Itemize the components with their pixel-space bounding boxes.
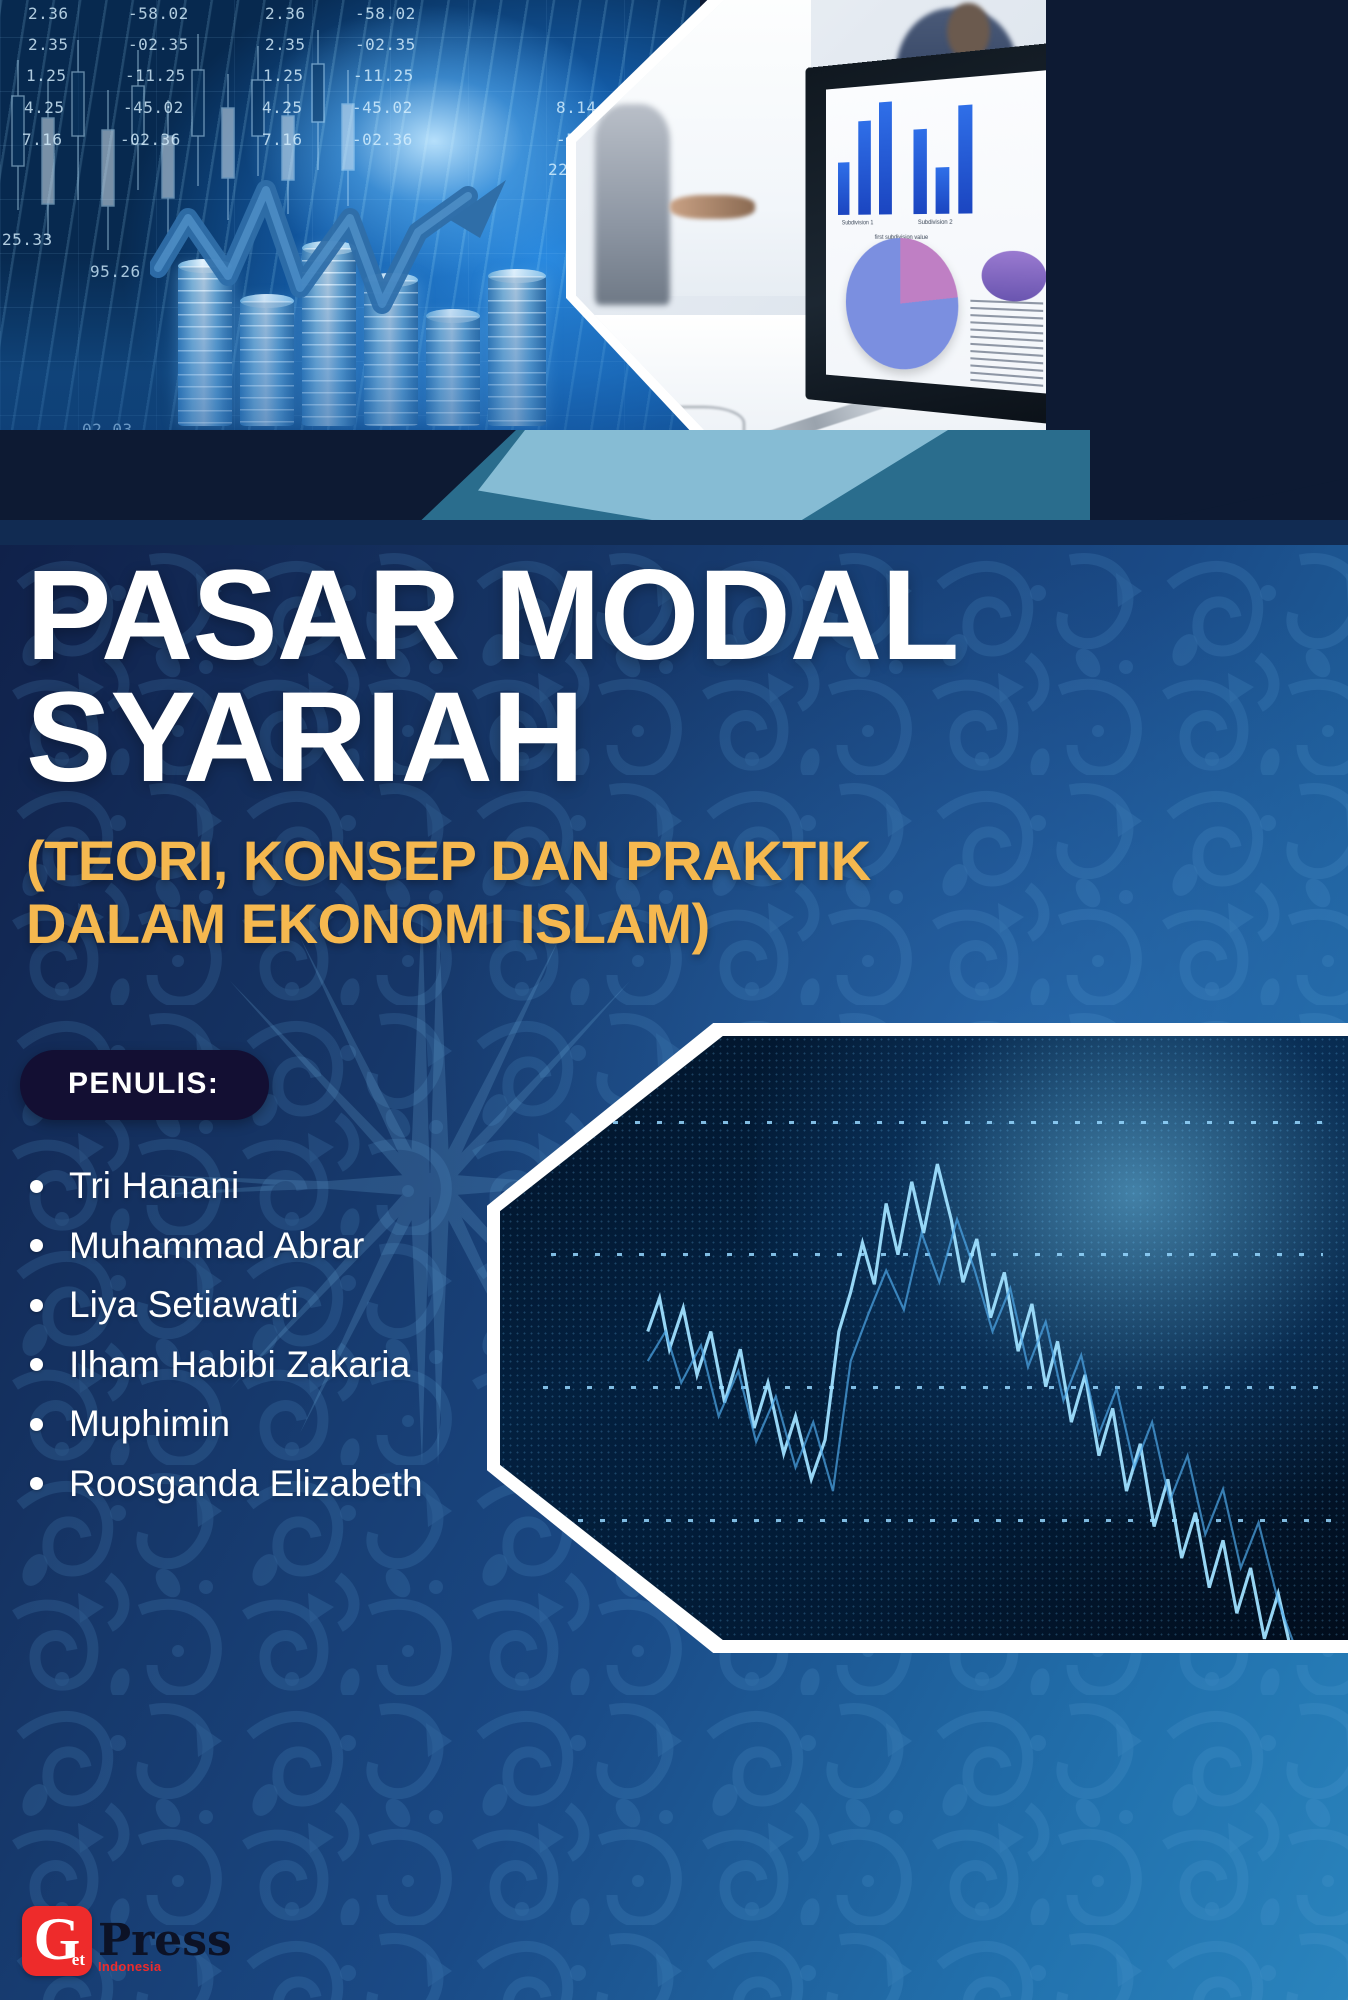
ticker-value: 7.16 [22, 130, 63, 149]
pie-chart-secondary [982, 250, 1046, 302]
author-name: Tri Hanani [69, 1160, 239, 1213]
laptop: Subdivision 1 Subdivision 2 first subdiv… [806, 42, 1046, 425]
ticker-value: 1.25 [263, 66, 304, 85]
author-list: Tri Hanani Muhammad Abrar Liya Setiawati… [30, 1160, 590, 1517]
authors-label-text: PENULIS: [68, 1067, 219, 1100]
subtitle-line-1: (TEORI, KONSEP DAN PRAKTIK [26, 830, 1026, 893]
book-subtitle: (TEORI, KONSEP DAN PRAKTIK DALAM EKONOMI… [26, 830, 1026, 955]
cover-main-area: PASAR MODAL SYARIAH (TEORI, KONSEP DAN P… [0, 545, 1348, 2000]
list-item: Muphimin [30, 1398, 590, 1451]
list-item: Tri Hanani [30, 1160, 590, 1213]
publisher-name: Press [98, 1920, 232, 1962]
book-title: PASAR MODAL SYARIAH [26, 555, 1316, 798]
bullet-icon [30, 1477, 43, 1490]
author-name: Muphimin [69, 1398, 230, 1451]
chart-axis-label-2: Subdivision 2 [918, 219, 953, 225]
author-name: Liya Setiawati [69, 1279, 299, 1332]
ticker-value: 25.33 [2, 230, 53, 249]
list-item: Ilham Habibi Zakaria [30, 1339, 590, 1392]
publisher-logo: G et Press Indonesia [22, 1906, 232, 1976]
list-item: Roosganda Elizabeth [30, 1458, 590, 1511]
person-left [595, 104, 670, 306]
bullet-icon [30, 1299, 43, 1312]
laptop-screen: Subdivision 1 Subdivision 2 first subdiv… [826, 69, 1046, 393]
band-base-fill [0, 520, 1348, 548]
ticker-value: -45.02 [123, 98, 184, 117]
book-cover: 2.36 -58.02 2.36 -58.02 2.35 -02.35 2.35… [0, 0, 1348, 2000]
stock-price-line-chart [500, 1036, 1348, 1640]
ticker-value: -02.35 [355, 35, 416, 54]
chart-axis-label-1: Subdivision 1 [842, 220, 874, 226]
title-line-2: SYARIAH [26, 677, 1316, 799]
authors-label-badge: PENULIS: [20, 1050, 269, 1120]
ticker-value: -11.25 [125, 66, 186, 85]
bullet-icon [30, 1358, 43, 1371]
list-item: Liya Setiawati [30, 1279, 590, 1332]
ticker-value: 4.25 [24, 98, 65, 117]
author-name: Ilham Habibi Zakaria [69, 1339, 410, 1392]
ticker-value: 1.25 [26, 66, 67, 85]
ticker-value: -58.02 [128, 4, 189, 23]
screen-paragraph-text [970, 300, 1043, 387]
ticker-value: -58.02 [355, 4, 416, 23]
ticker-value: -02.36 [120, 130, 181, 149]
ticker-value: -02.35 [128, 35, 189, 54]
ticker-value: 2.35 [265, 35, 306, 54]
bullet-icon [30, 1418, 43, 1431]
ticker-value: 2.36 [265, 4, 306, 23]
pie-chart [846, 237, 959, 373]
ticker-value: -11.25 [353, 66, 414, 85]
ticker-value: 4.25 [262, 98, 303, 117]
subtitle-line-2: DALAM EKONOMI ISLAM) [26, 893, 1026, 956]
ticker-value: 2.35 [28, 35, 69, 54]
title-line-1: PASAR MODAL [26, 555, 1316, 677]
ticker-value: -45.02 [352, 98, 413, 117]
list-item: Muhammad Abrar [30, 1220, 590, 1273]
bullet-icon [30, 1180, 43, 1193]
author-name: Roosganda Elizabeth [69, 1458, 423, 1511]
handshake [670, 195, 755, 219]
publisher-logo-mark: G et [22, 1906, 92, 1976]
stock-chart-hexagon-photo [487, 1023, 1348, 1653]
bullet-icon [30, 1239, 43, 1252]
publisher-logo-text: Press Indonesia [98, 1920, 232, 1976]
publisher-logo-suffix: et [72, 1950, 85, 1970]
ticker-value: 2.36 [28, 4, 69, 23]
header-image-band: 2.36 -58.02 2.36 -58.02 2.35 -02.35 2.35… [0, 0, 1348, 548]
author-name: Muhammad Abrar [69, 1220, 364, 1273]
